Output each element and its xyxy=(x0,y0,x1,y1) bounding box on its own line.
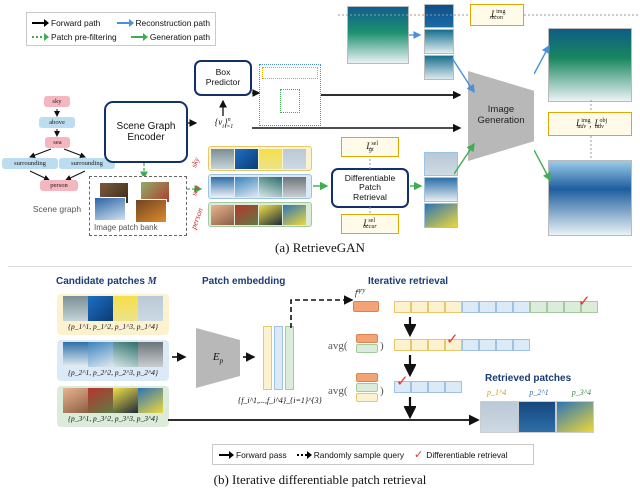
retrieval-cell[interactable] xyxy=(445,381,462,393)
candidate-patch[interactable] xyxy=(283,177,306,197)
forward-pass-arrow-icon xyxy=(219,454,233,456)
forward-path-arrow-icon xyxy=(32,22,48,24)
retrieval-cell[interactable] xyxy=(428,339,445,351)
arrow-embedding-to-box-predictor xyxy=(218,96,228,118)
candidate-patch[interactable] xyxy=(283,149,306,169)
query-feature-label: fqry xyxy=(355,288,365,298)
candidate-group-sky: {p_1^1, p_1^2, p_1^3, p_1^4} xyxy=(57,294,169,335)
arrow-encoder-to-features xyxy=(243,352,261,362)
reconstruction-path-arrow-icon xyxy=(117,22,133,24)
arrow-patches-to-generation xyxy=(454,140,480,178)
heading-iterative-retrieval: Iterative retrieval xyxy=(368,276,448,287)
candidate-patch[interactable] xyxy=(138,296,163,321)
retrieval-cell[interactable] xyxy=(411,381,428,393)
avg-label-step-3: avg( xyxy=(328,385,348,397)
avg-chips-step-3 xyxy=(356,373,378,402)
candidate-patch[interactable] xyxy=(235,205,258,225)
output-patch xyxy=(424,177,458,202)
retrieval-cell[interactable] xyxy=(513,301,530,313)
candidate-patch[interactable] xyxy=(63,388,88,413)
legend-label: Differentiable retrieval xyxy=(426,450,507,460)
avg-chip-selected xyxy=(356,344,378,353)
avg-chips-step-2 xyxy=(356,334,378,353)
rot-label: sea xyxy=(189,184,201,197)
avg-chip-selected xyxy=(356,383,378,392)
output-image-reconstruction xyxy=(548,28,632,102)
avg-label-step-2: avg( xyxy=(328,340,348,352)
retrieval-cell[interactable] xyxy=(479,339,496,351)
generation-path-arrow-icon xyxy=(131,36,147,38)
module-label: Differentiable Patch Retrieval xyxy=(345,174,395,203)
retrieval-cell[interactable] xyxy=(496,339,513,351)
category-label-sea: sea xyxy=(190,180,208,198)
feature-vector-sea xyxy=(274,326,283,390)
candidate-group-person: {p_3^1, p_3^2, p_3^3, p_3^4} xyxy=(57,386,169,427)
forward-lines-to-generation xyxy=(252,85,472,145)
panel-b-legend: Forward pass Randomly sample query ✓ Dif… xyxy=(212,444,534,465)
retrieved-patch-labels: p_1^4 p_2^1 p_3^4 xyxy=(487,388,591,397)
candidate-patch[interactable] xyxy=(113,342,138,367)
candidate-patch[interactable] xyxy=(211,177,234,197)
candidate-patch[interactable] xyxy=(259,205,282,225)
candidate-patch[interactable] xyxy=(88,388,113,413)
category-label-sky: sky xyxy=(190,152,208,170)
scene-graph-node-above: above xyxy=(39,117,75,128)
arrow-forward-to-retrieved xyxy=(168,408,484,444)
retrieval-cell[interactable] xyxy=(496,301,513,313)
rot-label: sky xyxy=(189,156,201,169)
adv-loss-connectors xyxy=(586,100,596,162)
loss-label: Lseloccur xyxy=(363,218,376,231)
patch-bank-thumb xyxy=(94,197,126,221)
rot-label: person xyxy=(189,207,205,231)
feature-vector-sky xyxy=(263,326,272,390)
module-box-predictor[interactable]: Box Predictor xyxy=(194,60,252,96)
retrieval-cell[interactable] xyxy=(479,301,496,313)
image-patch-bank: Image patch bank xyxy=(89,176,187,236)
candidate-patch[interactable] xyxy=(113,388,138,413)
candidate-patch[interactable] xyxy=(88,342,113,367)
legend-label: Patch pre-filtering xyxy=(51,32,117,42)
scene-graph-node-surrounding-left: surrounding xyxy=(2,158,58,169)
scene-graph-node-sky: sky xyxy=(44,96,70,107)
legend-item-forward-path: Forward path xyxy=(32,18,117,28)
candidate-patch[interactable] xyxy=(211,205,234,225)
avg-chip-query xyxy=(356,373,378,382)
arrow-recon-to-generation xyxy=(452,58,480,98)
scene-graph-node-person: person xyxy=(40,180,78,191)
feature-vector-person xyxy=(285,326,294,390)
recon-crop xyxy=(424,29,454,54)
candidate-patch[interactable] xyxy=(211,149,234,169)
heading-retrieved-patches: Retrieved patches xyxy=(485,373,571,384)
loss-occur-connector xyxy=(366,207,374,215)
arrow-generation-to-gen-output xyxy=(534,150,556,186)
retrieval-cell[interactable] xyxy=(530,301,547,313)
candidate-patch-row xyxy=(63,296,163,321)
panel-a-caption: (a) RetrieveGAN xyxy=(0,240,640,256)
arrow-dpr-to-patches xyxy=(410,181,426,191)
candidate-group-label: {p_2^1, p_2^2, p_2^3, p_2^4} xyxy=(68,368,158,377)
candidate-patch-row xyxy=(63,342,163,367)
box-sky xyxy=(262,67,318,79)
module-scene-graph-encoder[interactable]: Scene Graph Encoder xyxy=(104,101,188,163)
panel-a: Forward path Reconstruction path Patch p… xyxy=(0,0,640,258)
panel-divider xyxy=(8,266,632,267)
candidate-patch[interactable] xyxy=(259,177,282,197)
retrieval-cell[interactable] xyxy=(394,339,411,351)
retrieved-patch xyxy=(480,401,518,433)
candidate-patch[interactable] xyxy=(259,149,282,169)
arrow-candidates-to-encoder xyxy=(172,352,192,362)
legend-label: Generation path xyxy=(150,32,210,42)
feature-set-label: {f_i^1,...,f_i^4}_{i=1}^{3} xyxy=(238,396,322,405)
arrow-encoder-to-embedding xyxy=(188,118,200,128)
legend-item-differentiable-retrieval: ✓ Differentiable retrieval xyxy=(414,449,508,460)
feature-vectors xyxy=(263,326,294,390)
scene-graph-node-sea: sea xyxy=(45,137,70,148)
output-patch xyxy=(424,152,458,176)
candidate-group-label: {p_1^1, p_1^2, p_1^3, p_1^4} xyxy=(68,322,158,331)
module-patch-encoder[interactable]: Ep xyxy=(196,328,240,388)
avg-chip-selected xyxy=(356,393,378,402)
arrow-generation-to-recon-output xyxy=(534,44,554,78)
image-patch-bank-label: Image patch bank xyxy=(94,223,158,232)
arrow-random-sample-query xyxy=(286,292,366,332)
legend-item-reconstruction-path: Reconstruction path xyxy=(117,18,211,28)
heading-candidate-patches: Candidate patches M xyxy=(56,276,157,287)
output-image-generation xyxy=(548,160,632,236)
retrieved-patch xyxy=(556,401,594,433)
patch-encoder-label: Ep xyxy=(213,351,223,365)
candidate-row-sky xyxy=(208,146,312,171)
module-label: Scene Graph Encoder xyxy=(117,121,176,143)
retrieval-cell[interactable] xyxy=(513,339,530,351)
candidate-patch[interactable] xyxy=(88,296,113,321)
legend-item-forward-pass: Forward pass xyxy=(219,450,287,460)
dpr-output-patches xyxy=(424,152,458,228)
retrieval-cell[interactable] xyxy=(547,301,564,313)
retrieval-check-step-2: ✓ xyxy=(446,332,459,347)
module-label: Box Predictor xyxy=(206,68,240,87)
legend-item-patch-prefiltering: Patch pre-filtering xyxy=(32,32,131,42)
check-icon: ✓ xyxy=(414,449,423,460)
legend-label: Randomly sample query xyxy=(314,450,404,460)
legend-item-random-query: Randomly sample query xyxy=(297,450,404,460)
retrieval-cell[interactable] xyxy=(428,301,445,313)
output-patch xyxy=(424,203,458,228)
heading-patch-embedding: Patch embedding xyxy=(202,276,285,287)
retrieval-check-step-1: ✓ xyxy=(578,294,591,309)
retrieved-patches-row xyxy=(480,401,594,433)
retrieval-cell[interactable] xyxy=(394,301,411,313)
candidate-patch[interactable] xyxy=(283,205,306,225)
patch-prefiltering-arrow-icon xyxy=(32,36,48,38)
retrieved-patch-label: p_1^4 xyxy=(487,388,506,397)
avg-close-step-2: ) xyxy=(380,340,384,352)
loss-label-img: Limgadv xyxy=(576,118,586,131)
module-differentiable-patch-retrieval[interactable]: Differentiable Patch Retrieval xyxy=(331,168,409,208)
arrow-source-to-crops xyxy=(409,30,425,40)
retrieved-patch xyxy=(518,401,556,433)
candidate-patch[interactable] xyxy=(235,177,258,197)
object-embedding-label: {vi}ni=1 xyxy=(196,117,252,130)
candidate-row-person xyxy=(208,202,312,227)
retrieval-cell[interactable] xyxy=(445,301,462,313)
candidate-patch[interactable] xyxy=(63,342,88,367)
retrieval-check-step-3: ✓ xyxy=(396,374,409,389)
module-label: Image Generation xyxy=(477,105,524,127)
query-feature-chip xyxy=(353,301,379,312)
retrieval-cell[interactable] xyxy=(411,339,428,351)
candidate-group-label: {p_3^1, p_3^2, p_3^3, p_3^4} xyxy=(68,414,158,423)
candidate-patch-row xyxy=(63,388,163,413)
legend-label: Forward pass xyxy=(236,450,287,460)
loss-occur-sel: Lseloccur xyxy=(341,214,399,234)
retrieval-step-1-bar xyxy=(394,301,598,313)
candidate-row-sea xyxy=(208,174,312,199)
retrieved-patch-label: p_3^4 xyxy=(572,388,591,397)
loss-gt-connector xyxy=(366,157,374,169)
patch-bank-thumb xyxy=(135,199,167,223)
candidate-patch[interactable] xyxy=(235,149,258,169)
retrieval-step-2-bar xyxy=(394,339,530,351)
heading-text: Candidate patches xyxy=(56,276,145,287)
candidate-group-sea: {p_2^1, p_2^2, p_2^3, p_2^4} xyxy=(57,340,169,381)
panel-b: Candidate patches M Patch embedding Iter… xyxy=(0,268,640,501)
random-sample-arrow-icon xyxy=(297,454,311,456)
recon-crop xyxy=(424,55,454,80)
retrieval-cell[interactable] xyxy=(411,301,428,313)
avg-chip-query xyxy=(356,334,378,343)
avg-close-step-3: ) xyxy=(380,385,384,397)
heading-symbol: M xyxy=(148,276,157,287)
candidate-patch[interactable] xyxy=(113,296,138,321)
panel-b-caption: (b) Iterative differentiable patch retri… xyxy=(0,472,640,488)
legend-item-generation-path: Generation path xyxy=(131,32,210,42)
candidate-patch[interactable] xyxy=(138,342,163,367)
legend-label: Forward path xyxy=(51,18,100,28)
retrieval-cell[interactable] xyxy=(462,339,479,351)
legend-label: Reconstruction path xyxy=(136,18,211,28)
candidate-patch[interactable] xyxy=(138,388,163,413)
panel-a-legend: Forward path Reconstruction path Patch p… xyxy=(26,12,216,46)
candidate-patch[interactable] xyxy=(63,296,88,321)
retrieval-cell[interactable] xyxy=(428,381,445,393)
arrow-candidates-to-dpr xyxy=(313,181,333,191)
retrieval-cell[interactable] xyxy=(462,301,479,313)
recon-loss-connector xyxy=(338,10,638,20)
retrieved-patch-label: p_2^1 xyxy=(529,388,548,397)
